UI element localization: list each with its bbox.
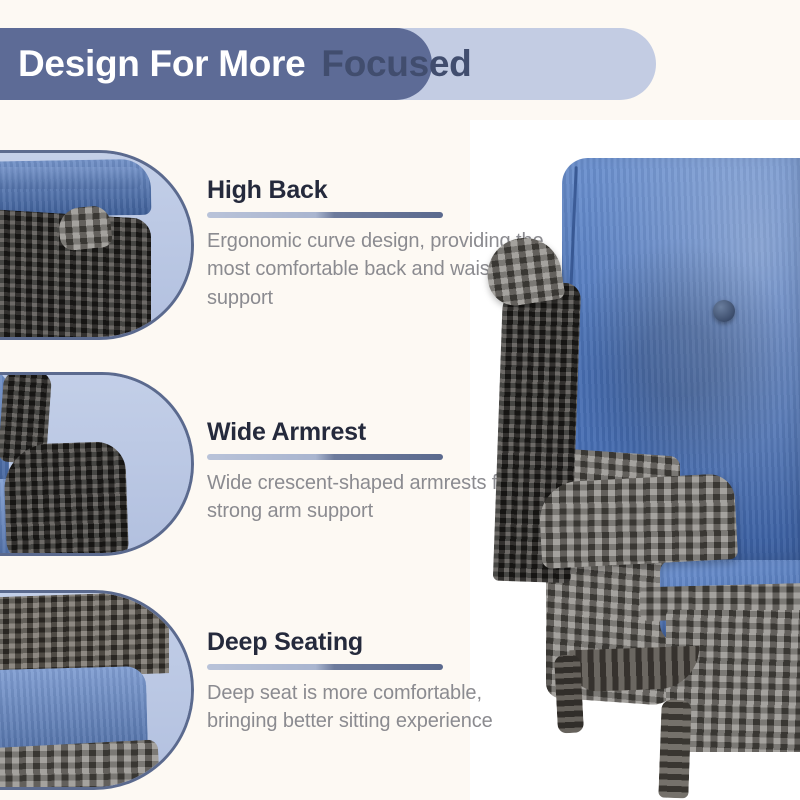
- wide-armrest-detail-photo: [0, 372, 194, 556]
- feature-title: Deep Seating: [207, 628, 557, 657]
- chair-armrest-top: [538, 473, 738, 569]
- chair-back-leg: [554, 654, 584, 733]
- cushion-highlight: [0, 167, 143, 189]
- feature-divider: [207, 454, 443, 460]
- product-feature-infographic: Design For More Focused: [0, 0, 800, 800]
- feature-deep-seating: Deep Seating Deep seat is more comfortab…: [207, 628, 557, 736]
- feature-title: High Back: [207, 176, 557, 205]
- cushion-tuft-button: [713, 300, 735, 322]
- high-back-detail-photo: [0, 150, 194, 340]
- high-back-photo-content: [0, 153, 191, 337]
- wicker-front-rail: [0, 739, 160, 790]
- feature-divider: [207, 664, 443, 670]
- banner-text-group: Design For More Focused: [0, 28, 656, 100]
- deep-seating-photo-content: [0, 593, 191, 787]
- feature-divider: [207, 212, 443, 218]
- wide-armrest-photo-content: [0, 375, 191, 553]
- armrest-crescent: [3, 441, 129, 556]
- deep-seating-detail-photo: [0, 590, 194, 790]
- banner-highlight-text: Design For More: [18, 43, 305, 85]
- feature-body: Deep seat is more comfortable, bringing …: [207, 679, 557, 736]
- chair-front-leg: [658, 700, 691, 799]
- banner-accent-text: Focused: [321, 43, 471, 85]
- design-banner: Design For More Focused: [0, 28, 660, 100]
